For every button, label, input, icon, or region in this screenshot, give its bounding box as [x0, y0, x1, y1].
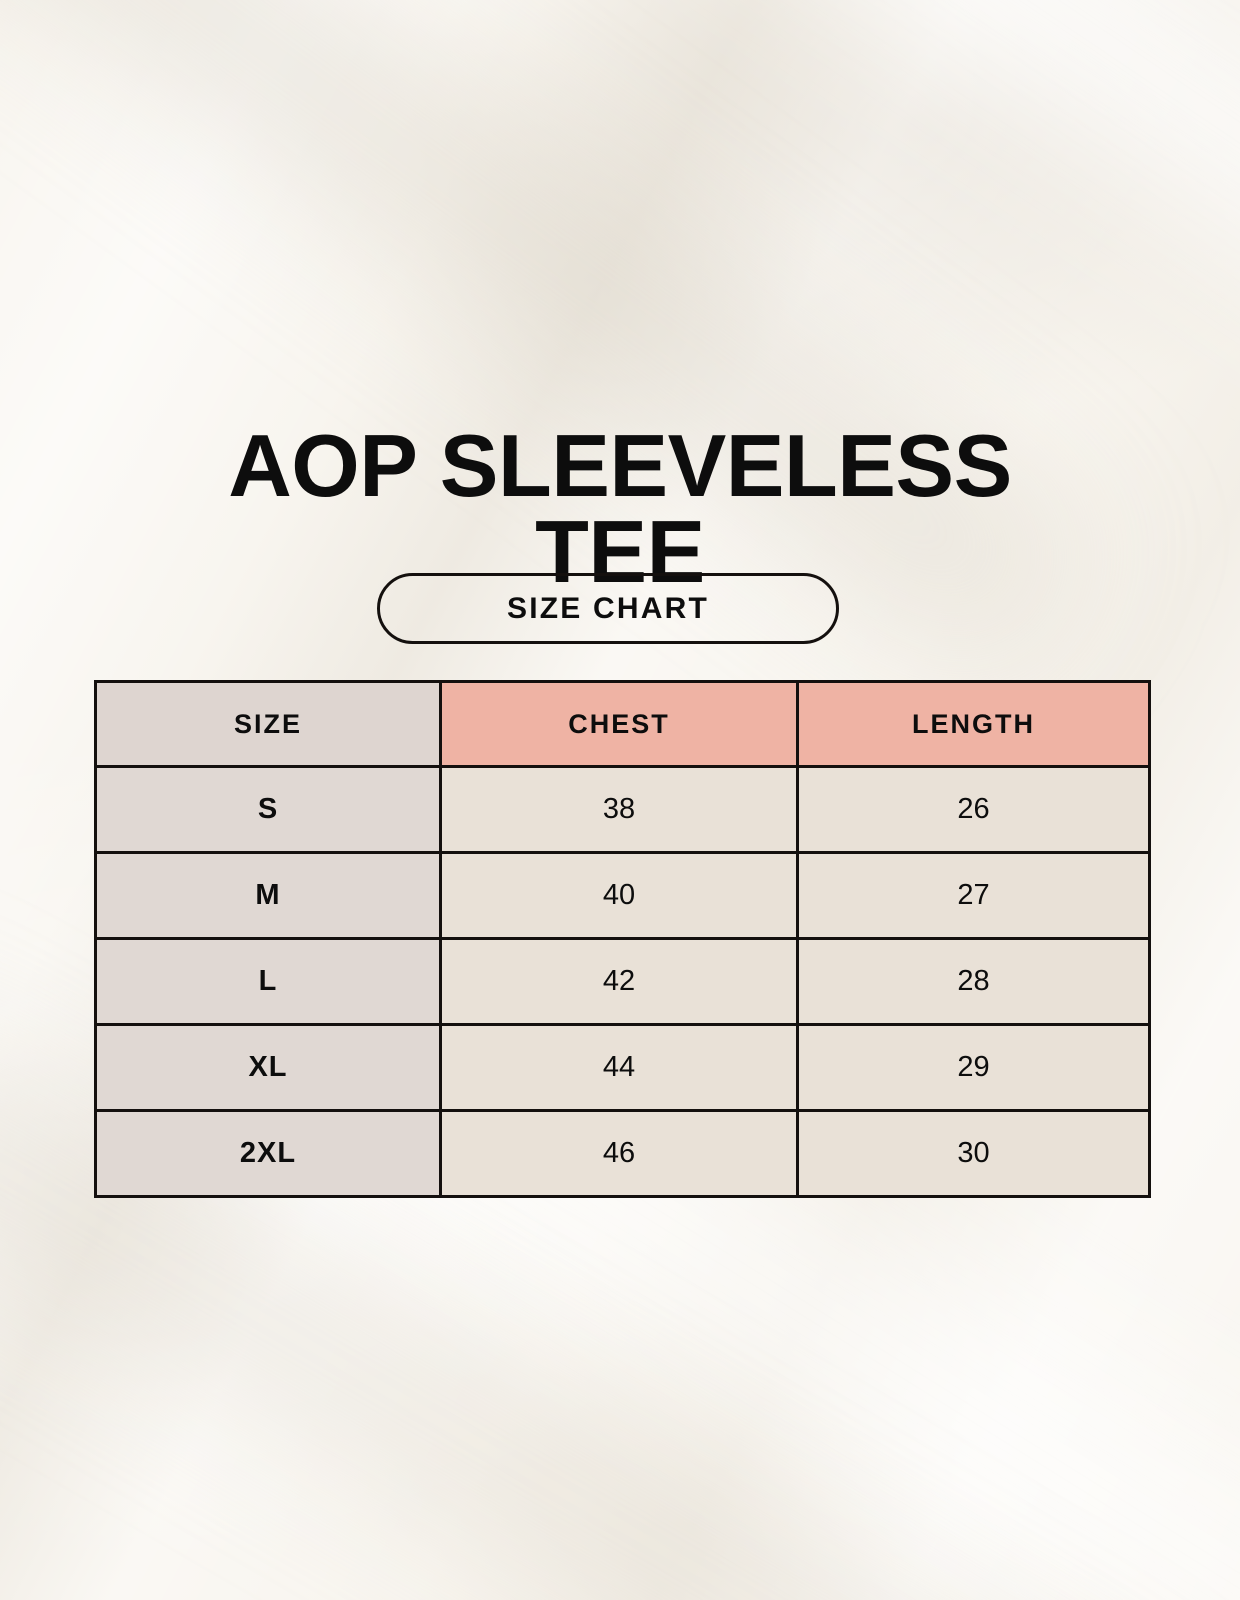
- size-chart-pill: SIZE CHART: [377, 573, 839, 644]
- cell-length-xl: 29: [798, 1025, 1150, 1111]
- size-chart-pill-label: SIZE CHART: [507, 592, 709, 626]
- column-header-length: LENGTH: [798, 682, 1150, 767]
- cell-size-2xl: 2XL: [96, 1111, 441, 1197]
- size-table: SIZE CHEST LENGTH S 38 26 M 40 27: [94, 680, 1151, 1198]
- cell-length-2xl: 30: [798, 1111, 1150, 1197]
- table-row: 2XL 46 30: [96, 1111, 1150, 1197]
- size-table-container: SIZE CHEST LENGTH S 38 26 M 40 27: [94, 680, 1148, 1198]
- cell-chest-m: 40: [441, 853, 798, 939]
- column-header-size: SIZE: [96, 682, 441, 767]
- cell-size-s: S: [96, 767, 441, 853]
- cell-length-m: 27: [798, 853, 1150, 939]
- page-title: AOP SLEEVELESS TEE: [0, 423, 1240, 595]
- size-table-head: SIZE CHEST LENGTH: [96, 682, 1150, 767]
- table-row: XL 44 29: [96, 1025, 1150, 1111]
- table-row: M 40 27: [96, 853, 1150, 939]
- cell-length-l: 28: [798, 939, 1150, 1025]
- table-header-row: SIZE CHEST LENGTH: [96, 682, 1150, 767]
- cell-chest-2xl: 46: [441, 1111, 798, 1197]
- cell-length-s: 26: [798, 767, 1150, 853]
- size-table-body: S 38 26 M 40 27 L 42 28 XL: [96, 767, 1150, 1197]
- size-chart-page: AOP SLEEVELESS TEE SIZE CHART SIZE CHEST…: [0, 0, 1240, 1600]
- column-header-chest: CHEST: [441, 682, 798, 767]
- cell-size-xl: XL: [96, 1025, 441, 1111]
- table-row: L 42 28: [96, 939, 1150, 1025]
- cell-chest-s: 38: [441, 767, 798, 853]
- background-light-streak-1: [216, 0, 1240, 406]
- table-row: S 38 26: [96, 767, 1150, 853]
- cell-size-l: L: [96, 939, 441, 1025]
- page-title-line-1: AOP SLEEVELESS: [0, 423, 1240, 509]
- cell-chest-xl: 44: [441, 1025, 798, 1111]
- cell-chest-l: 42: [441, 939, 798, 1025]
- cell-size-m: M: [96, 853, 441, 939]
